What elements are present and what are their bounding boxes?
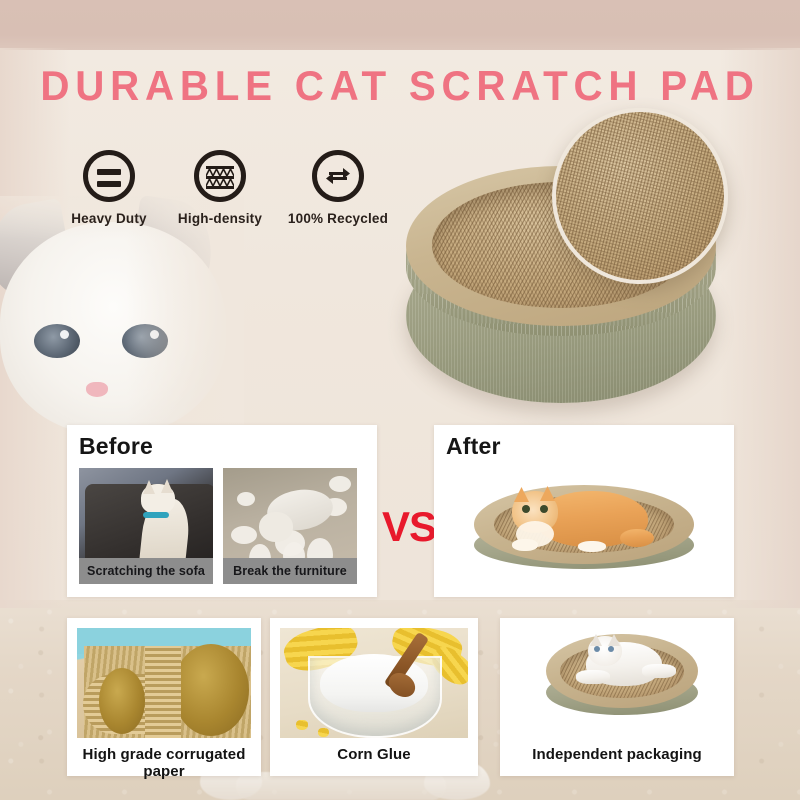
photo-caption: Break the furniture	[223, 558, 357, 584]
cat-leg-fur	[236, 772, 446, 800]
photo-caption: Scratching the sofa	[79, 558, 213, 584]
feature-recycled: 100% Recycled	[283, 150, 393, 226]
after-card: After	[434, 425, 734, 597]
zigzag-2	[206, 179, 234, 186]
feature-high-density: High-density	[165, 150, 275, 226]
equals-bars-icon	[83, 150, 135, 202]
feature-label: 100% Recycled	[283, 211, 393, 226]
feature-label: High-density	[165, 211, 275, 226]
card-caption: High grade corrugated paper	[67, 746, 261, 780]
ragdoll-cat-photo	[0, 196, 244, 432]
cat-breaking-furniture-photo: Break the furniture	[223, 468, 357, 584]
before-card: Before Scratching the sofa	[67, 425, 377, 597]
corrugated-paper-photo	[77, 628, 251, 738]
corrugated-layers-icon	[194, 150, 246, 202]
white-cat-on-scratcher-photo	[546, 634, 698, 732]
independent-packaging-card: Independent packaging	[500, 618, 734, 776]
ginger-cat-on-scratcher-photo	[474, 485, 694, 589]
round-corrugated-insert	[552, 108, 728, 284]
product-infographic: DURABLE CAT SCRATCH PAD Heavy Duty	[0, 0, 800, 800]
card-caption: Corn Glue	[270, 746, 478, 763]
recycle-arrows-icon	[312, 150, 364, 202]
page-title: DURABLE CAT SCRATCH PAD	[16, 62, 784, 110]
corn-glue-card: Corn Glue	[270, 618, 478, 776]
feature-label: Heavy Duty	[54, 211, 164, 226]
before-title: Before	[79, 433, 153, 460]
cat-scratching-sofa-photo: Scratching the sofa	[79, 468, 213, 584]
card-caption: Independent packaging	[500, 746, 734, 763]
background-top-band	[0, 0, 800, 50]
feature-heavy-duty: Heavy Duty	[54, 150, 164, 226]
recycle-arrows-glyph	[325, 164, 351, 188]
corn-glue-photo	[280, 628, 468, 738]
photo-fade-top	[0, 196, 244, 432]
hero-product-image	[392, 108, 744, 408]
vs-label: VS	[382, 503, 436, 551]
corrugated-paper-card: High grade corrugated paper	[67, 618, 261, 776]
after-title: After	[446, 433, 501, 460]
zigzag-1	[206, 169, 234, 176]
